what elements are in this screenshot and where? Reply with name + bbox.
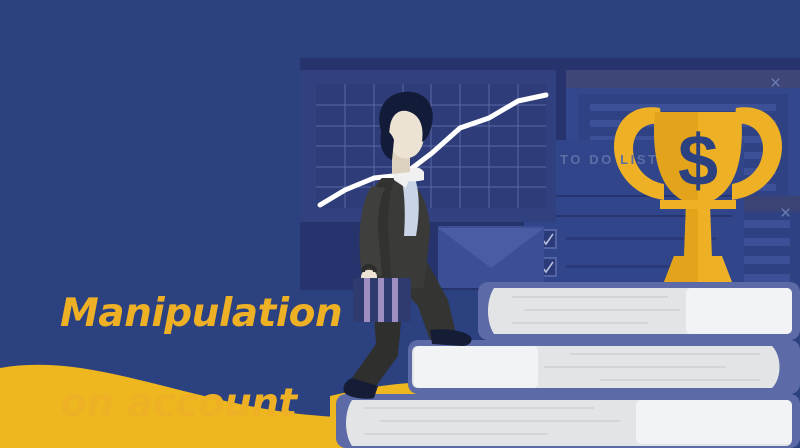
banner-illustration: $ bbox=[0, 0, 800, 448]
headline-line-1: Manipulation bbox=[60, 291, 380, 336]
page-title: Manipulation on account bbox=[60, 246, 380, 448]
headline-line-2: on account bbox=[60, 381, 380, 426]
close-icon[interactable]: × bbox=[780, 204, 791, 223]
todo-list-title: TO DO LIST bbox=[560, 152, 659, 167]
figure-front-shoe bbox=[430, 329, 472, 346]
close-icon[interactable]: × bbox=[770, 74, 781, 93]
